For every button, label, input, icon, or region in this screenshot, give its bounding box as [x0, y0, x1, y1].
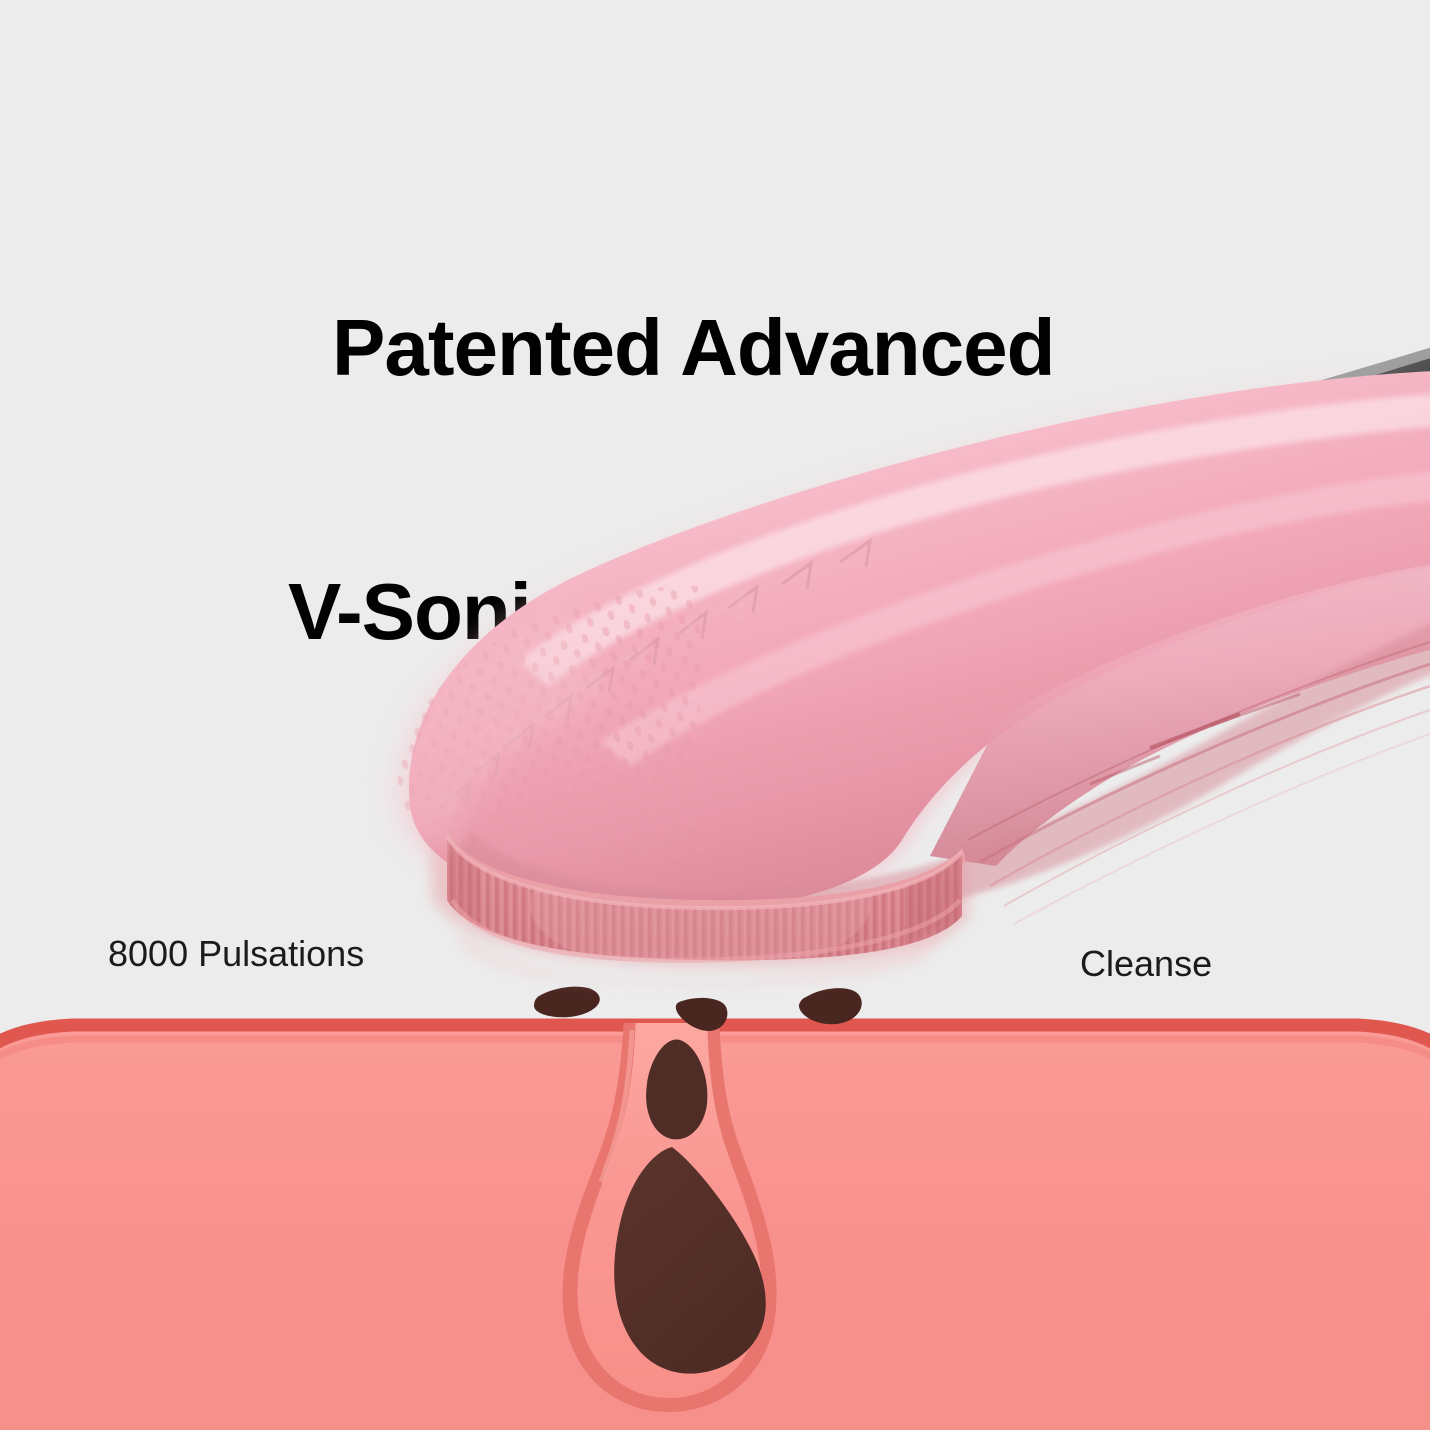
sonic-facial-cleansing-brush	[0, 0, 1430, 1430]
product-feature-image: Patented Advanced V-Sonic™ technology 80…	[0, 0, 1430, 1430]
